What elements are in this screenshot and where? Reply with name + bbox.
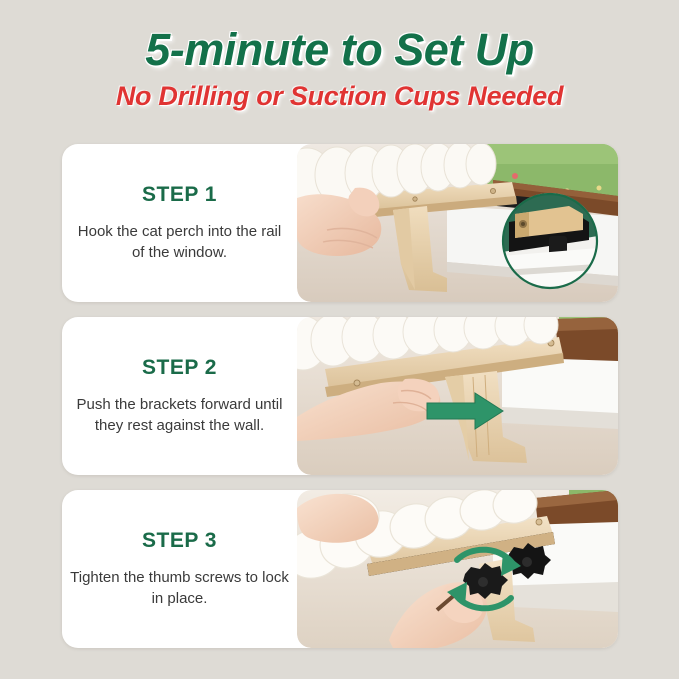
step-2-photo (297, 317, 618, 475)
step-3-illustration (297, 490, 618, 648)
step-card-2: STEP 2 Push the brackets forward until t… (62, 317, 618, 475)
page-title: 5-minute to Set Up (0, 26, 679, 73)
step-card-3: STEP 3 Tighten the thumb screws to lock … (62, 490, 618, 648)
step-2-label: STEP 2 (142, 356, 217, 380)
header: 5-minute to Set Up No Drilling or Suctio… (0, 0, 679, 112)
steps-list: STEP 1 Hook the cat perch into the rail … (62, 144, 618, 663)
step-2-text-block: STEP 2 Push the brackets forward until t… (62, 317, 297, 475)
step-2-description: Push the brackets forward until they res… (70, 395, 289, 436)
step-1-description: Hook the cat perch into the rail of the … (70, 222, 289, 263)
step-1-text-block: STEP 1 Hook the cat perch into the rail … (62, 144, 297, 302)
step-1-illustration (297, 144, 618, 302)
step-2-illustration (297, 317, 618, 475)
step-3-description: Tighten the thumb screws to lock in plac… (70, 568, 289, 609)
step-1-label: STEP 1 (142, 183, 217, 207)
step-card-1: STEP 1 Hook the cat perch into the rail … (62, 144, 618, 302)
step-1-photo (297, 144, 618, 302)
page-subtitle: No Drilling or Suction Cups Needed (0, 81, 679, 112)
step-3-text-block: STEP 3 Tighten the thumb screws to lock … (62, 490, 297, 648)
step-3-photo (297, 490, 618, 648)
step-3-label: STEP 3 (142, 529, 217, 553)
